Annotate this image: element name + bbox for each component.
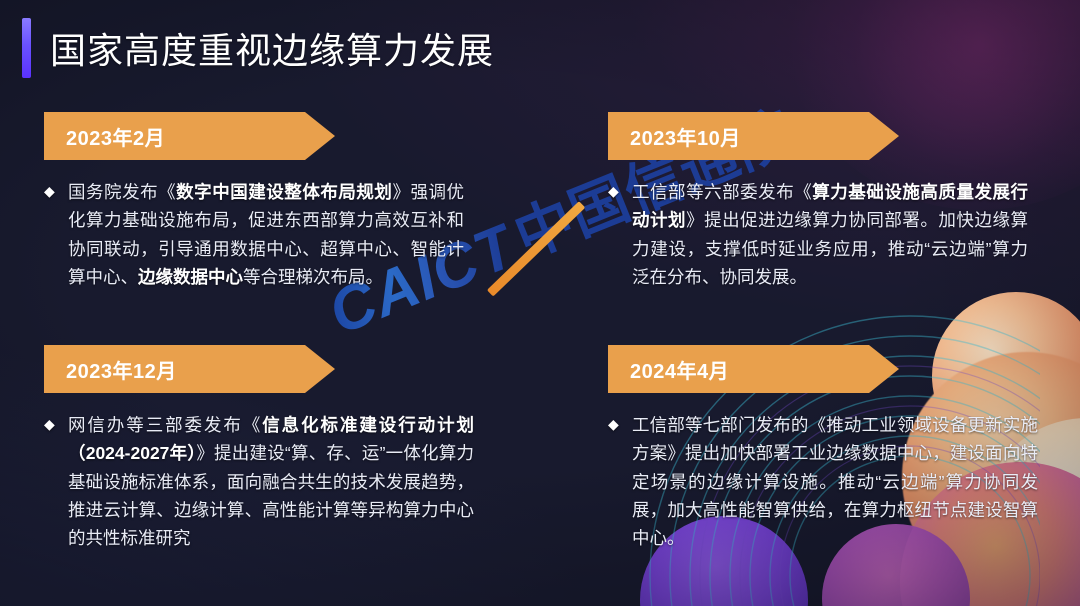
diamond-bullet-icon: ◆ — [44, 178, 68, 291]
panel-body-text: 工信部等七部门发布的《推动工业领域设备更新实施方案》提出加快部署工业边缘数据中心… — [632, 411, 1038, 553]
diamond-bullet-icon: ◆ — [44, 411, 68, 553]
diamond-bullet-icon: ◆ — [608, 411, 632, 553]
date-banner-label: 2023年12月 — [66, 355, 177, 384]
panel-body-text: 国务院发布《数字中国建设整体布局规划》强调优化算力基础设施布局，促进东西部算力高… — [68, 178, 464, 291]
timeline-panel-1: 2023年2月 ◆ 国务院发布《数字中国建设整体布局规划》强调优化算力基础设施布… — [44, 112, 464, 291]
date-banner-label: 2024年4月 — [630, 355, 729, 384]
title-label: 国家高度重视边缘算力发展 — [50, 22, 494, 74]
panel-body: ◆ 国务院发布《数字中国建设整体布局规划》强调优化算力基础设施布局，促进东西部算… — [44, 178, 464, 291]
timeline-panel-4: 2024年4月 ◆ 工信部等七部门发布的《推动工业领域设备更新实施方案》提出加快… — [608, 345, 1038, 553]
panel-body-text: 工信部等六部委发布《算力基础设施高质量发展行动计划》提出促进边缘算力协同部署。加… — [632, 178, 1028, 291]
page-title: 国家高度重视边缘算力发展 — [22, 18, 494, 78]
date-banner-label: 2023年10月 — [630, 122, 741, 151]
title-accent-bar — [22, 18, 31, 78]
date-banner-label: 2023年2月 — [66, 122, 165, 151]
diamond-bullet-icon: ◆ — [608, 178, 632, 291]
date-banner: 2023年12月 — [44, 345, 335, 393]
panel-body: ◆ 工信部等六部委发布《算力基础设施高质量发展行动计划》提出促进边缘算力协同部署… — [608, 178, 1028, 291]
panel-body: ◆ 网信办等三部委发布《信息化标准建设行动计划（2024-2027年）》提出建设… — [44, 411, 474, 553]
date-banner: 2023年10月 — [608, 112, 899, 160]
date-banner: 2023年2月 — [44, 112, 335, 160]
slide-canvas: CAICT 中国信通院 国家高度重视边缘算力发展 2023年2月 ◆ 国务院发布… — [0, 0, 1080, 606]
timeline-panel-3: 2023年12月 ◆ 网信办等三部委发布《信息化标准建设行动计划（2024-20… — [44, 345, 474, 553]
date-banner: 2024年4月 — [608, 345, 899, 393]
timeline-panel-2: 2023年10月 ◆ 工信部等六部委发布《算力基础设施高质量发展行动计划》提出促… — [608, 112, 1028, 291]
panel-body: ◆ 工信部等七部门发布的《推动工业领域设备更新实施方案》提出加快部署工业边缘数据… — [608, 411, 1038, 553]
panel-body-text: 网信办等三部委发布《信息化标准建设行动计划（2024-2027年）》提出建设“算… — [68, 411, 474, 553]
